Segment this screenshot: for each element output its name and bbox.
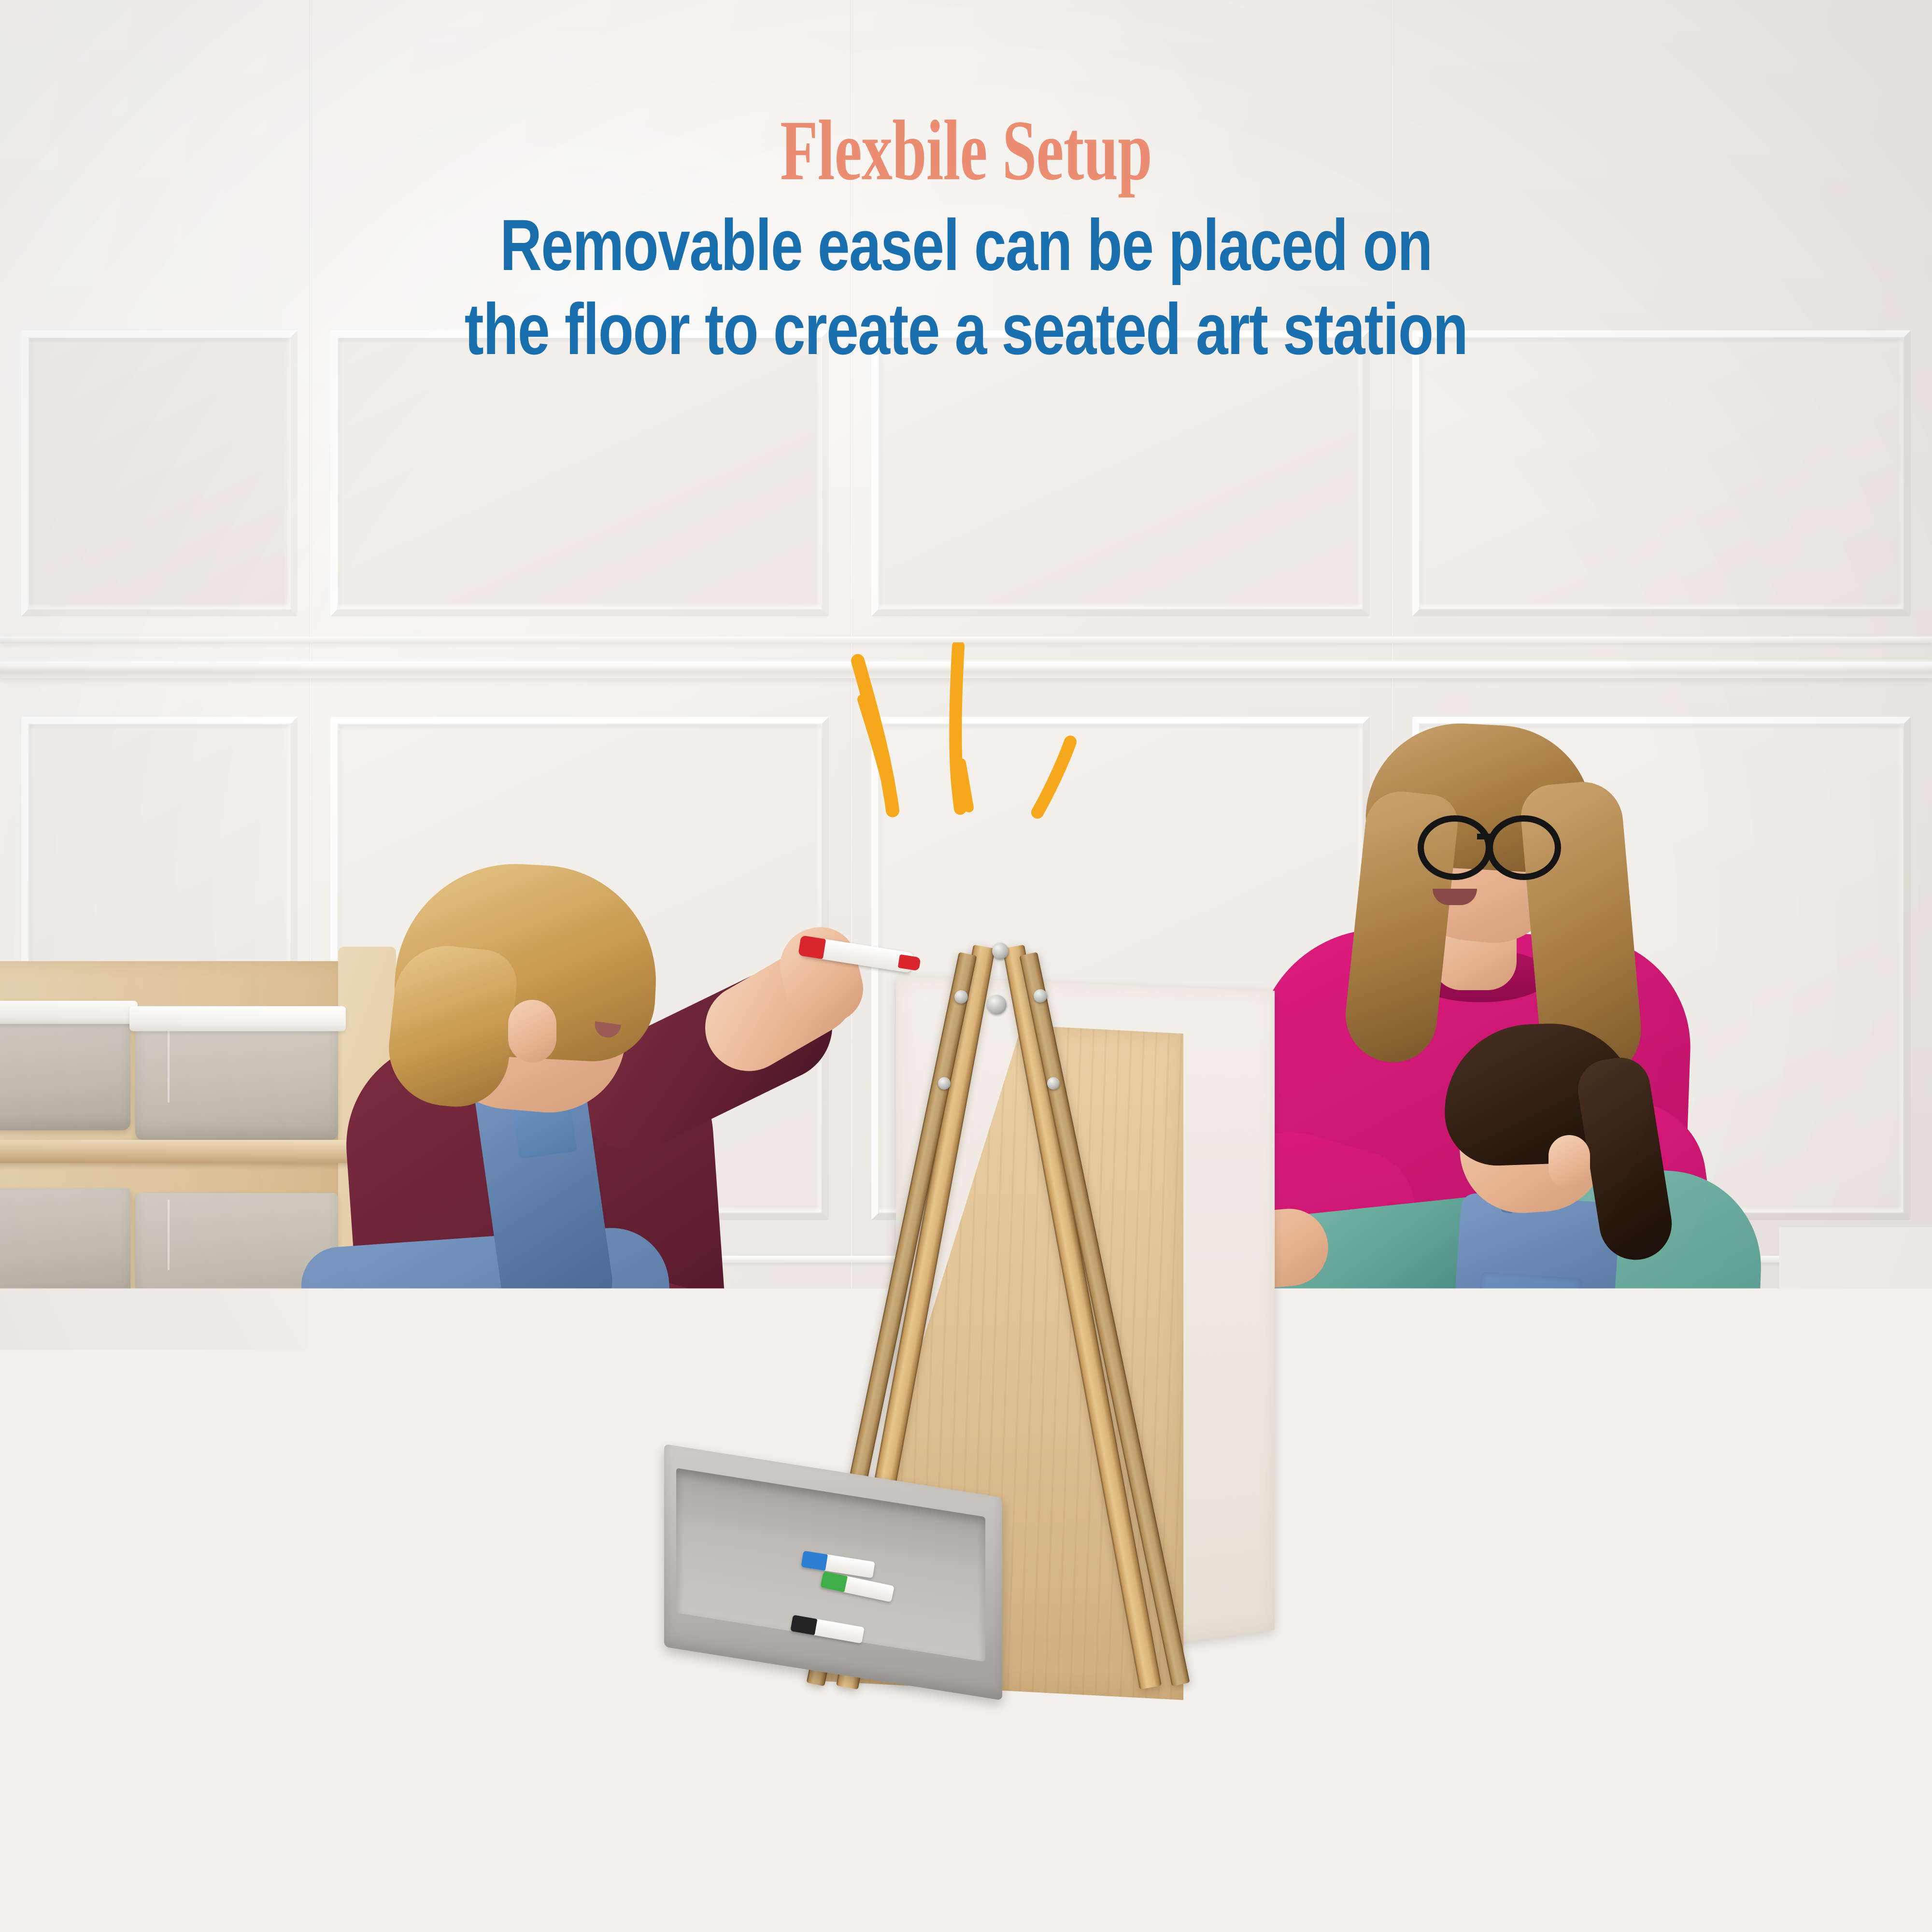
marker-cap [1206,1635,1232,1655]
storage-bin-lid [0,1001,138,1024]
floor-grain [145,1770,628,1771]
cart-caster [72,1358,106,1392]
floor-plank-seam [1304,1707,1306,1838]
boy-ear [508,1000,556,1063]
red-marker-cap [675,1373,719,1400]
storage-bin [0,1017,130,1130]
marker-tip [898,954,921,971]
page-subtitle-line-2: the floor to create a seated art station [193,287,1739,371]
storage-bin [0,1188,130,1299]
storage-bin [135,1024,338,1140]
easel-hinge [1047,1077,1060,1090]
easel-hinge [992,943,1009,959]
wall-panel [879,338,1362,609]
product-lifestyle-image: Flexbile Setup Removable easel can be pl… [0,0,1932,1932]
glasses-icon [1418,815,1492,880]
storage-bin-lid [129,1006,346,1031]
easel-hinge [938,1077,951,1090]
easel-hinge [987,995,1007,1014]
apron-rivet-icon [1521,1363,1533,1375]
page-subtitle: Removable easel can be placed on the flo… [193,203,1739,371]
girl-ear [1548,1135,1590,1189]
marker-cap [798,935,826,959]
page-subtitle-line-1: Removable easel can be placed on [193,203,1739,287]
ring-icon [1297,1355,1315,1373]
cart-shelf [0,1140,357,1163]
hand-drawn-excitement-marks [811,642,1179,826]
floor-grain [1159,1775,1835,1776]
easel-hinge [1034,989,1047,1003]
page-title: Flexbile Setup [270,107,1662,193]
easel-foot-bracket [1275,1745,1292,1761]
glasses-bridge-icon [1477,834,1491,839]
wall-panel [1420,338,1903,609]
wall-panel [29,338,290,609]
easel-hinge [954,990,968,1004]
wall-panel [338,338,821,609]
glasses-icon [1487,815,1561,880]
apron-pocket [1475,1272,1583,1370]
cushion-top-surface [111,1488,594,1647]
easel-foot-bracket [714,1747,730,1763]
